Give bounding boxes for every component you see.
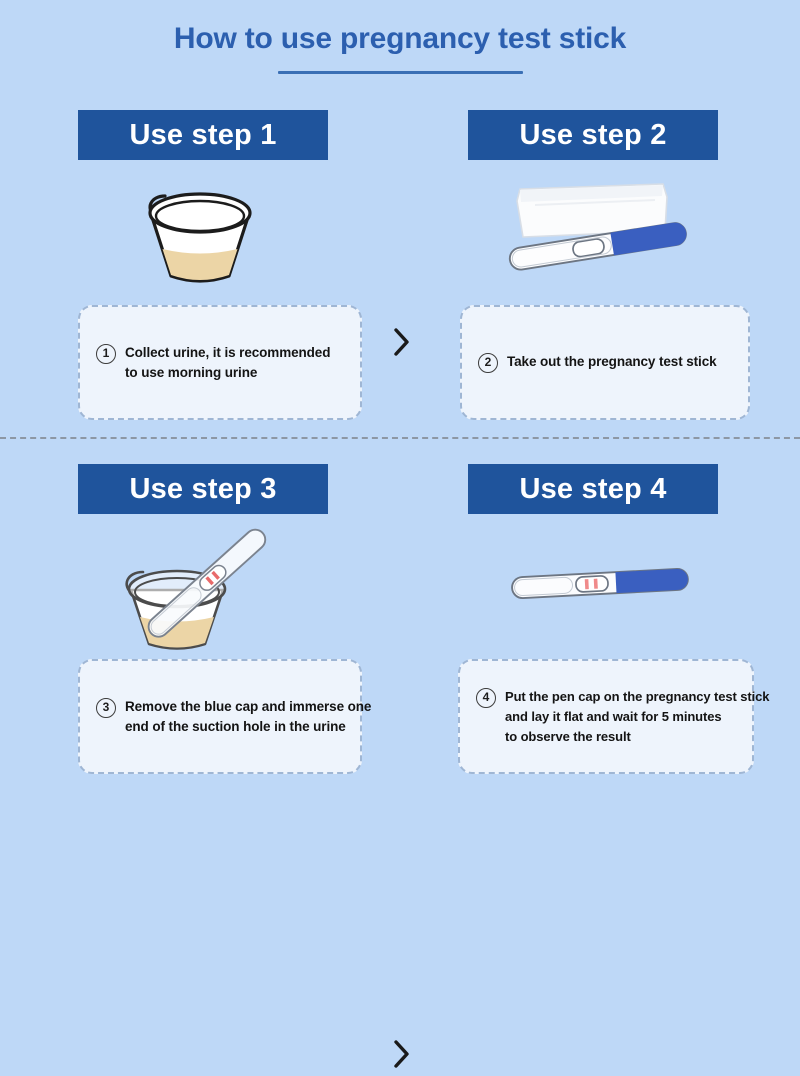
step-banner-4: Use step 4 (468, 464, 718, 514)
step-banner-label-2: Use step 2 (519, 120, 666, 150)
row-divider-dashed (0, 437, 800, 439)
steps-row-top: Use step 1 (0, 103, 800, 446)
step-card-2: Use step 2 (400, 103, 800, 446)
step-banner-label-3: Use step 3 (129, 474, 276, 504)
step-number-badge-2: 2 (478, 353, 498, 373)
step-caption-text-1: Collect urine, it is recommended to use … (125, 343, 330, 383)
step-illustration-3 (0, 519, 400, 649)
caption-line: Put the pen cap on the pregnancy test st… (505, 687, 769, 707)
caption-line: and lay it flat and wait for 5 minutes (505, 707, 769, 727)
steps-row-bottom: Use step 3 (0, 457, 800, 800)
step-card-3: Use step 3 (0, 457, 400, 800)
step-caption-box-1: 1 Collect urine, it is recommended to us… (78, 305, 362, 420)
step-illustration-1 (0, 165, 400, 295)
step-card-1: Use step 1 (0, 103, 400, 446)
step-caption-box-3: 3 Remove the blue cap and immerse one en… (78, 659, 362, 774)
step-banner-1: Use step 1 (78, 110, 328, 160)
arrow-chevron-right-top (389, 325, 413, 359)
page-title: How to use pregnancy test stick (0, 20, 800, 58)
caption-line: to observe the result (505, 727, 769, 747)
stick-dipped-in-cup-icon (105, 514, 295, 654)
step-banner-label-4: Use step 4 (519, 474, 666, 504)
step-caption-box-2: 2 Take out the pregnancy test stick (460, 305, 750, 420)
caption-line: to use morning urine (125, 363, 330, 383)
test-stick-with-result-icon (500, 549, 700, 619)
step-number-badge-3: 3 (96, 698, 116, 718)
step-caption-text-4: Put the pen cap on the pregnancy test st… (505, 687, 769, 747)
arrow-chevron-right-bottom (389, 1037, 413, 1071)
step-banner-2: Use step 2 (468, 110, 718, 160)
pouch-and-test-stick-icon (495, 175, 705, 285)
step-caption-text-2: Take out the pregnancy test stick (507, 352, 717, 372)
step-banner-3: Use step 3 (78, 464, 328, 514)
step-number-badge-4: 4 (476, 688, 496, 708)
step-illustration-4 (400, 519, 800, 649)
caption-line: end of the suction hole in the urine (125, 717, 371, 737)
step-illustration-2 (400, 165, 800, 295)
caption-line: Collect urine, it is recommended (125, 343, 330, 363)
infographic-page: How to use pregnancy test stick Use step… (0, 0, 800, 800)
step-card-4: Use step 4 (400, 457, 800, 800)
page-header: How to use pregnancy test stick (0, 20, 800, 74)
title-underline-divider (278, 71, 523, 74)
step-caption-box-4: 4 Put the pen cap on the pregnancy test … (458, 659, 754, 774)
step-banner-label-1: Use step 1 (129, 120, 276, 150)
caption-line: Remove the blue cap and immerse one (125, 697, 371, 717)
step-caption-text-3: Remove the blue cap and immerse one end … (125, 697, 371, 737)
caption-line: Take out the pregnancy test stick (507, 352, 717, 372)
step-number-badge-1: 1 (96, 344, 116, 364)
urine-cup-icon (125, 170, 275, 290)
steps-grid: Use step 1 (0, 103, 800, 800)
